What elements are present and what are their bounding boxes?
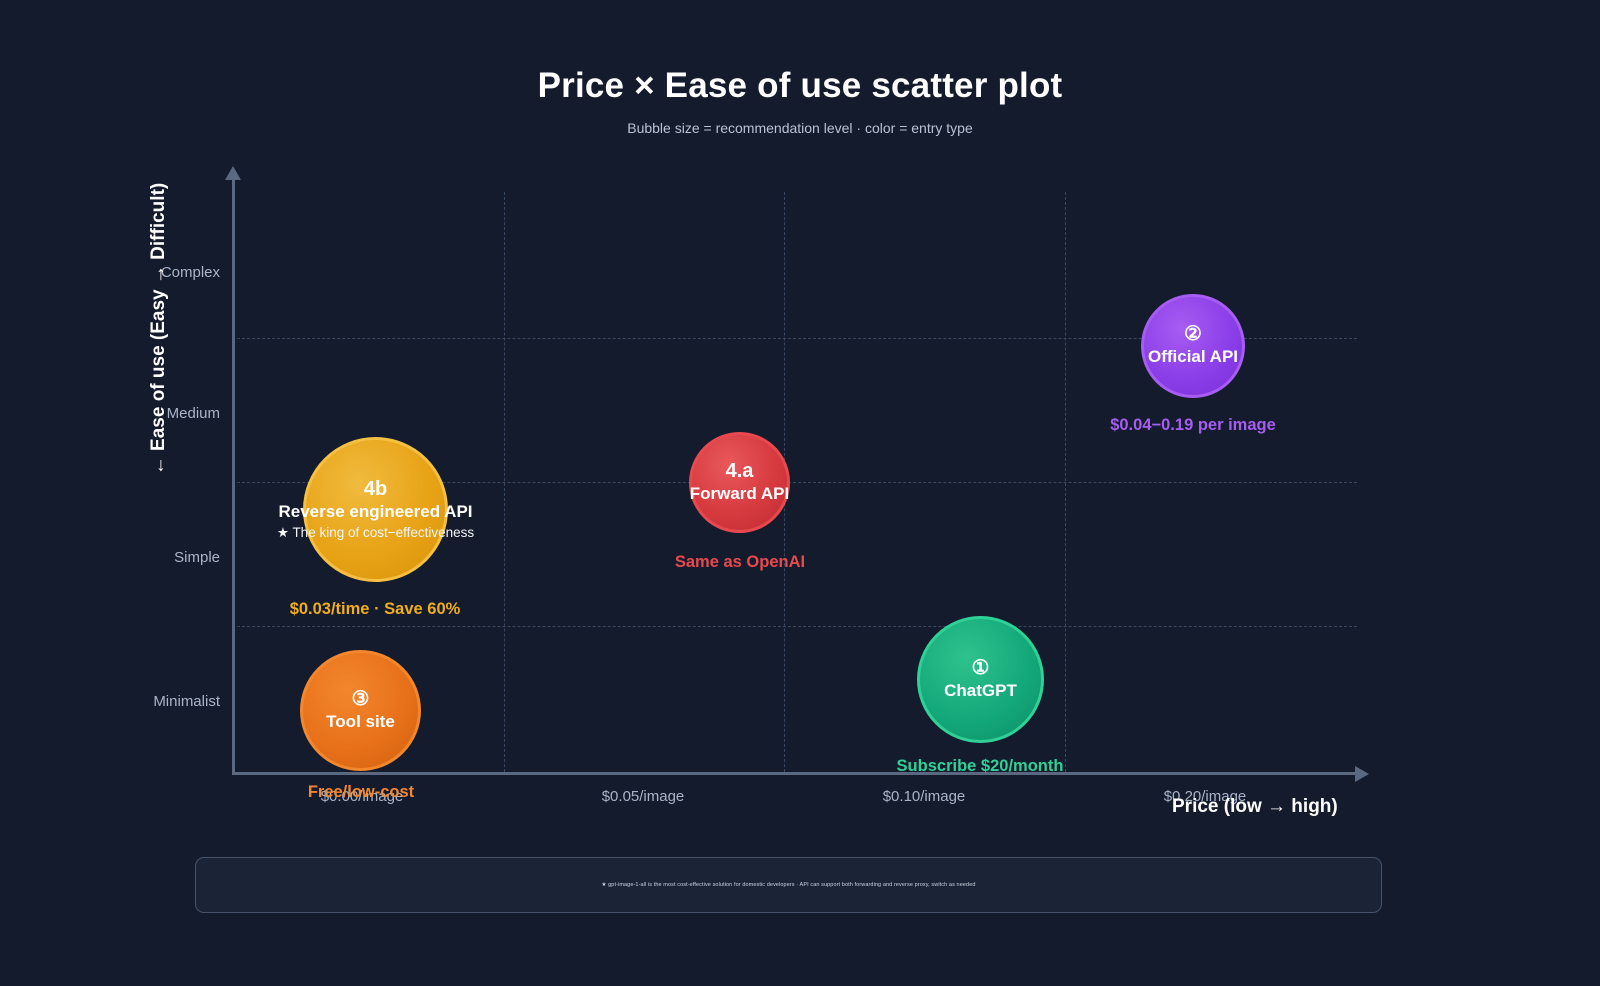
bubble-tool-site[interactable]: ③ Tool site [300, 650, 421, 771]
bubble-price-chatgpt: Subscribe $20/month [770, 757, 1190, 776]
y-tick-medium: Medium [167, 405, 220, 422]
footnote-box: ★ gpt-image-1-all is the most cost-effec… [195, 857, 1382, 913]
bubble-label: Tool site [326, 711, 395, 733]
x-tick-010: $0.10/image [824, 788, 1024, 805]
y-tick-minimalist: Minimalist [153, 693, 220, 710]
gridline-horizontal-3 [232, 626, 1357, 627]
bubble-number: 4.a [726, 460, 754, 483]
bubble-price-reverse-engineered-api: $0.03/time · Save 60% [165, 600, 585, 619]
page-title: Price × Ease of use scatter plot [0, 66, 1600, 106]
bubble-label: ChatGPT [944, 680, 1017, 702]
y-axis-arrow-icon [225, 166, 241, 180]
chart-subtitle: Bubble size = recommendation level · col… [0, 120, 1600, 136]
y-tick-simple: Simple [174, 549, 220, 566]
bubble-forward-api[interactable]: 4.a Forward API [689, 432, 790, 533]
footnote-text: ★ gpt-image-1-all is the most cost-effec… [601, 882, 975, 888]
bubble-note: ★ The king of cost−effectiveness [277, 524, 474, 542]
bubble-chatgpt[interactable]: ① ChatGPT [917, 616, 1044, 743]
bubble-number: 4b [364, 478, 387, 501]
x-tick-005: $0.05/image [543, 788, 743, 805]
y-axis-title: ← Ease of use (Easy → Difficult) [148, 169, 170, 489]
x-axis-title: Price (low → high) [1172, 796, 1338, 818]
scatter-plot-canvas: Price × Ease of use scatter plot Bubble … [0, 0, 1600, 986]
bubble-number: ① [972, 657, 990, 680]
x-axis-arrow-icon [1355, 766, 1369, 782]
bubble-label: Official API [1148, 346, 1238, 368]
bubble-official-api[interactable]: ② Official API [1141, 294, 1245, 398]
bubble-price-tool-site: Free/low-cost [151, 783, 571, 802]
bubble-label: Forward API [690, 483, 790, 505]
bubble-number: ③ [352, 688, 370, 711]
bubble-reverse-engineered-api[interactable]: 4b Reverse engineered API ★ The king of … [303, 437, 448, 582]
bubble-number: ② [1184, 323, 1202, 346]
bubble-label: Reverse engineered API [279, 501, 473, 523]
y-axis-line [232, 178, 235, 774]
bubble-price-official-api: $0.04−0.19 per image [983, 416, 1403, 435]
bubble-price-forward-api: Same as OpenAI [530, 553, 950, 572]
